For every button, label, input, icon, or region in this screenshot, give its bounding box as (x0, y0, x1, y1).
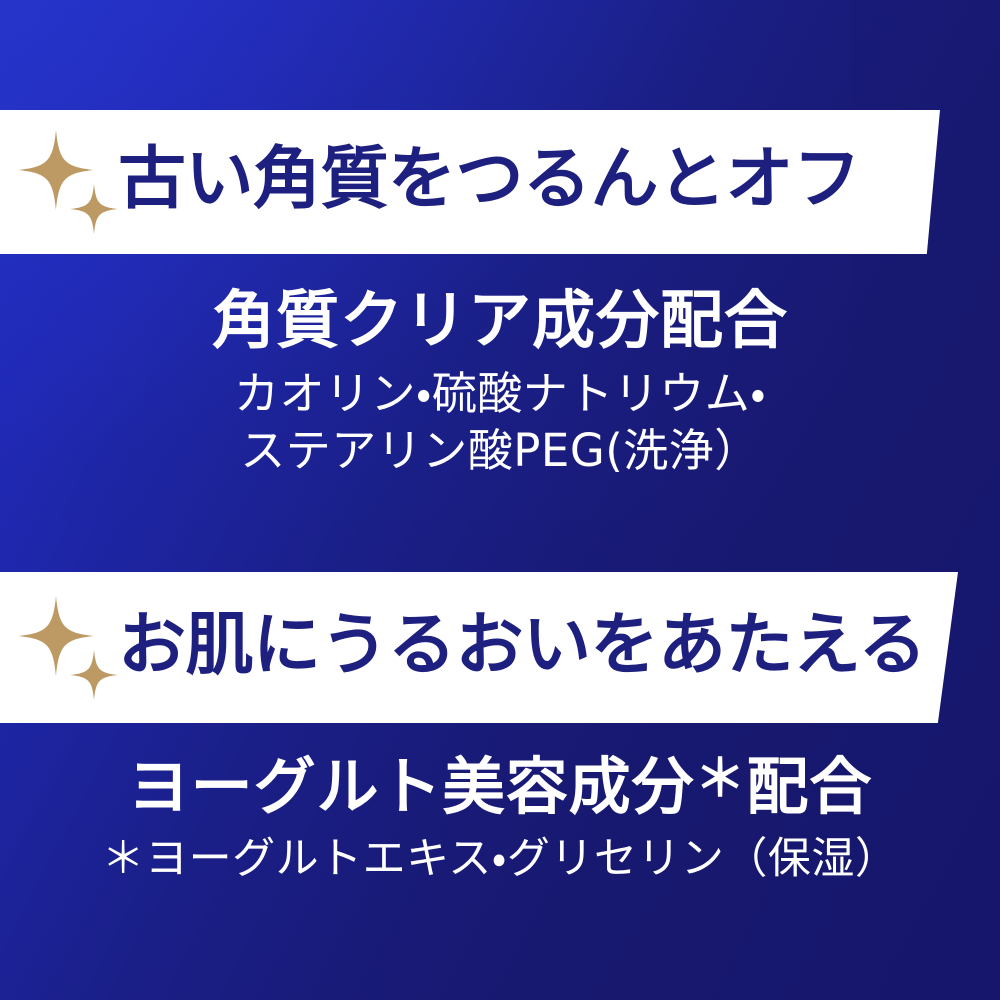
sparkle-icon (14, 588, 122, 708)
ingredient-line: カオリン・硫酸ナトリウム・ (0, 365, 1000, 423)
headline-moisture-after: 配合 (746, 750, 872, 823)
feature-banner-moisture: お肌にうるおいをあたえる (0, 572, 958, 723)
headline-exfoliation: 角質クリア成分配合 (0, 288, 1000, 355)
sparkle-icon (14, 122, 122, 242)
headline-moisture: ヨーグルト美容成分＊配合 (0, 752, 1000, 820)
banner-label-moisture: お肌にうるおいをあたえる (118, 612, 926, 684)
product-feature-poster: 古い角質をつるんとオフ 角質クリア成分配合 カオリン・硫酸ナトリウム・ ステアリ… (0, 0, 1000, 1000)
feature-banner-exfoliation: 古い角質をつるんとオフ (0, 110, 940, 254)
feature-block-exfoliation: 角質クリア成分配合 カオリン・硫酸ナトリウム・ ステアリン酸PEG(洗浄） (0, 288, 1000, 480)
ingredient-list-moisture: ＊ヨーグルトエキス・グリセリン（保湿） (0, 832, 1000, 887)
headline-moisture-before: ヨーグルト美容成分 (128, 750, 695, 823)
banner-label-exfoliation: 古い角質をつるんとオフ (118, 146, 861, 218)
ingredient-list-exfoliation: カオリン・硫酸ナトリウム・ ステアリン酸PEG(洗浄） (0, 365, 1000, 480)
footnote-marker-icon: ＊ (695, 749, 747, 808)
ingredient-line: ステアリン酸PEG(洗浄） (0, 422, 1000, 480)
ingredient-line: ＊ヨーグルトエキス・グリセリン（保湿） (0, 832, 1000, 887)
feature-block-moisture: ヨーグルト美容成分＊配合 ＊ヨーグルトエキス・グリセリン（保湿） (0, 752, 1000, 887)
